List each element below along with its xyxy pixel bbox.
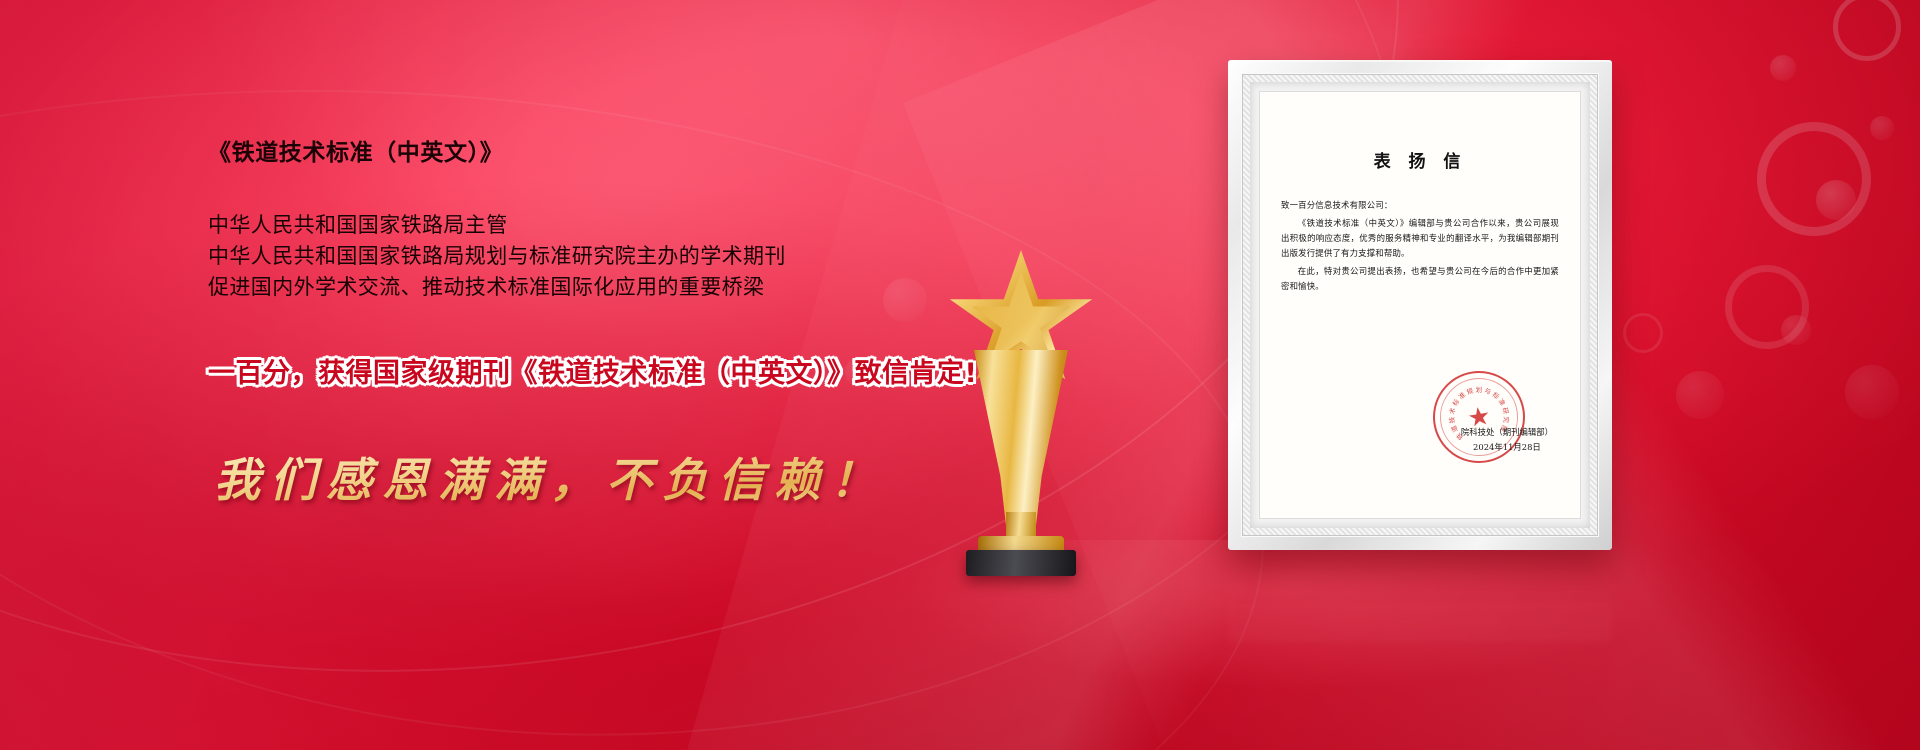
bokeh-bubble: [1757, 122, 1871, 236]
frame-bevel: 表 扬 信 致一百分信息技术有限公司： 《铁道技术标准（中英文）》编辑部与贵公司…: [1243, 75, 1597, 535]
frame-reflection: [1228, 552, 1612, 642]
certificate-paper: 表 扬 信 致一百分信息技术有限公司： 《铁道技术标准（中英文）》编辑部与贵公司…: [1259, 91, 1581, 519]
trophy-cup: [974, 350, 1068, 525]
certificate-salutation: 致一百分信息技术有限公司：: [1281, 198, 1559, 213]
bokeh-bubble: [1845, 365, 1899, 419]
signature-org: 院科技处（期刊编辑部）: [1461, 425, 1553, 440]
signature-date: 2024年11月28日: [1461, 440, 1553, 455]
banner-stage: 《铁道技术标准（中英文）》 中华人民共和国国家铁路局主管 中华人民共和国国家铁路…: [0, 0, 1920, 750]
bokeh-bubble: [1623, 313, 1663, 353]
bokeh-bubble: [1781, 315, 1811, 345]
certificate-signature: 院科技处（期刊编辑部） 2024年11月28日: [1461, 425, 1553, 455]
bokeh-bubble: [1725, 265, 1809, 349]
journal-title: 《铁道技术标准（中英文）》: [208, 140, 1088, 168]
trophy-base-dark: [966, 550, 1076, 576]
bokeh-bubble: [1833, 0, 1901, 61]
bokeh-bubble: [1816, 180, 1856, 220]
certificate-paragraph-1: 《铁道技术标准（中英文）》编辑部与贵公司合作以来，贵公司展现出积极的响应态度，优…: [1281, 216, 1559, 261]
lead-line-1: 中华人民共和国国家铁路局主管: [208, 210, 1088, 241]
certificate-title: 表 扬 信: [1281, 147, 1559, 172]
bokeh-bubble: [1770, 55, 1796, 81]
trophy: [930, 250, 1110, 570]
bokeh-bubble: [1676, 371, 1724, 419]
certificate-frame: 表 扬 信 致一百分信息技术有限公司： 《铁道技术标准（中英文）》编辑部与贵公司…: [1228, 60, 1612, 550]
trophy-neck: [1006, 512, 1036, 538]
bokeh-bubble: [1870, 116, 1894, 140]
certificate-paragraph-2: 在此，特对贵公司提出表扬，也希望与贵公司在今后的合作中更加紧密和愉快。: [1281, 264, 1559, 294]
